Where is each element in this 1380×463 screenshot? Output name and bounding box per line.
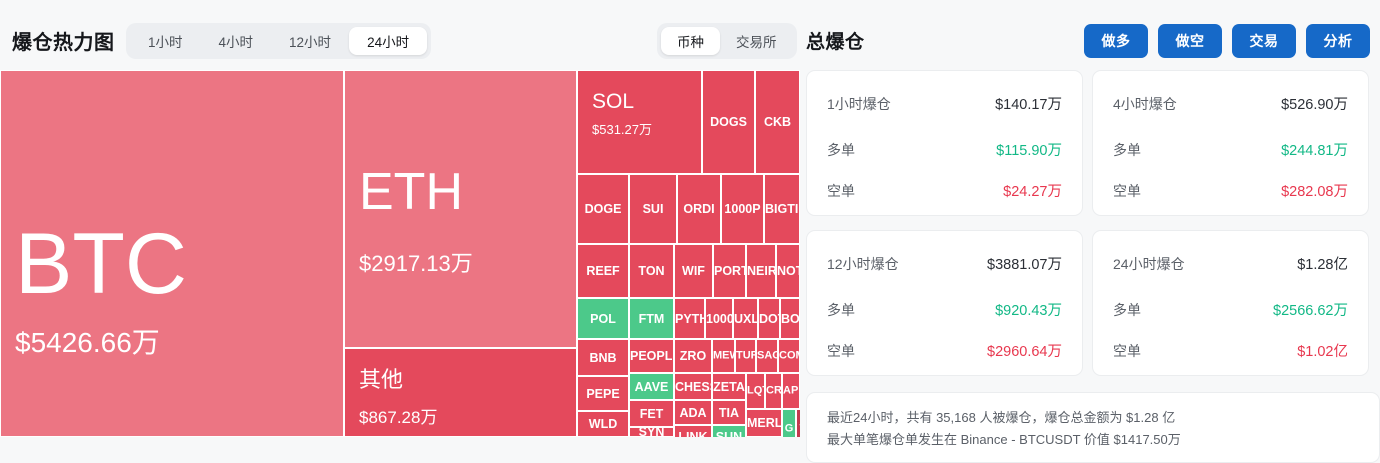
treemap-tile-value: $531.27万: [592, 123, 652, 136]
summary-line-1: 最近24小时，共有 35,168 人被爆仓，爆仓总金额为 $1.28 亿: [827, 407, 1359, 429]
stats-panel: 1小时爆仓$140.17万多单$115.90万空单$24.27万4小时爆仓$52…: [806, 70, 1380, 463]
treemap-tile-symbol: TURBO: [736, 351, 755, 362]
liquidation-heatmap-page: 爆仓热力图 1小时4小时12小时24小时 币种交易所 总爆仓 做多做空交易分析 …: [0, 0, 1380, 463]
treemap-tile[interactable]: PEPE: [577, 376, 629, 411]
treemap-tile-symbol: MERL: [747, 417, 781, 430]
treemap-tile[interactable]: APE: [782, 373, 800, 409]
stat-card-row: 4小时爆仓$526.90万: [1113, 93, 1348, 114]
treemap-tile[interactable]: BIGTIME: [764, 174, 800, 244]
stat-card-long-value: $115.90万: [996, 139, 1062, 160]
treemap-tile-symbol: CKB: [756, 116, 799, 129]
treemap-tile[interactable]: LQTY: [746, 373, 765, 409]
treemap-tile-symbol: TON: [630, 265, 673, 278]
treemap-tile-value: $867.28万: [359, 409, 437, 426]
stat-card-row: 空单$1.02亿: [1113, 340, 1348, 361]
treemap-tile[interactable]: DOGS: [702, 70, 755, 174]
treemap-tile-symbol: PEOPLE: [630, 350, 673, 363]
treemap-tile-symbol: ADA: [675, 406, 711, 419]
treemap-tile-symbol: ORDI: [678, 203, 720, 216]
stat-card-row: 多单$920.43万: [827, 299, 1062, 320]
stat-card-long-label: 多单: [1113, 300, 1141, 320]
treemap-tile-symbol: NEIRO: [747, 265, 775, 278]
treemap-tile[interactable]: TON: [629, 244, 674, 298]
stat-card-long-label: 多单: [1113, 140, 1141, 160]
treemap-tile[interactable]: T: [796, 409, 800, 437]
liquidation-treemap[interactable]: BTC$5426.66万ETH$2917.13万其他$867.28万SOL$53…: [0, 70, 800, 437]
treemap-tile[interactable]: TURBO: [735, 339, 756, 373]
stat-card-short-value: $1.02亿: [1297, 340, 1348, 361]
treemap-tile[interactable]: NOT: [776, 244, 800, 298]
treemap-tile-symbol: SUN: [713, 431, 745, 437]
treemap-tile[interactable]: BTC$5426.66万: [0, 70, 344, 437]
treemap-tile[interactable]: UXLINK: [733, 298, 758, 339]
treemap-tile[interactable]: FET: [629, 400, 674, 427]
treemap-tile[interactable]: MEW: [712, 339, 735, 373]
treemap-tile[interactable]: ZETA: [712, 373, 746, 400]
treemap-tile[interactable]: 1000R: [705, 298, 733, 339]
treemap-tile-symbol: DOGE: [578, 203, 628, 216]
treemap-tile[interactable]: SYN: [629, 427, 674, 437]
stat-card: 24小时爆仓$1.28亿多单$2566.62万空单$1.02亿: [1092, 230, 1369, 376]
treemap-tile[interactable]: ADA: [674, 400, 712, 425]
stat-card-short-value: $2960.64万: [987, 340, 1062, 361]
treemap-tile[interactable]: SUN: [712, 425, 746, 437]
stat-card-row: 1小时爆仓$140.17万: [827, 93, 1062, 114]
summary-line-2: 最大单笔爆仓单发生在 Binance - BTCUSDT 价值 $1417.50…: [827, 429, 1359, 451]
stat-card-row: 空单$282.08万: [1113, 180, 1348, 201]
stat-card-row: 多单$244.81万: [1113, 139, 1348, 160]
stat-card-long-label: 多单: [827, 300, 855, 320]
treemap-tile-symbol: BOME: [781, 312, 799, 325]
treemap-tile[interactable]: WLD: [577, 411, 629, 437]
treemap-tile-symbol: TIA: [713, 406, 745, 419]
treemap-tile-symbol: POL: [578, 312, 628, 325]
treemap-tile[interactable]: TIA: [712, 400, 746, 425]
stat-card: 1小时爆仓$140.17万多单$115.90万空单$24.27万: [806, 70, 1083, 216]
treemap-tile[interactable]: 其他$867.28万: [344, 348, 577, 437]
stat-card-long-value: $920.43万: [995, 299, 1062, 320]
treemap-tile-symbol: WIF: [675, 265, 712, 278]
treemap-tile-symbol: DOT: [759, 312, 779, 325]
total-liquidation-title: 总爆仓: [806, 27, 865, 54]
stat-card-short-value: $282.08万: [1281, 180, 1348, 201]
page-header: 爆仓热力图 1小时4小时12小时24小时 币种交易所 总爆仓 做多做空交易分析: [0, 0, 1380, 70]
stat-card-row: 12小时爆仓$3881.07万: [827, 253, 1062, 274]
treemap-tile-symbol: 1000P: [722, 203, 763, 216]
treemap-tile[interactable]: ZRO: [674, 339, 712, 373]
treemap-tile-symbol: 1000R: [706, 312, 732, 325]
treemap-tile[interactable]: LINK: [674, 425, 712, 437]
stat-card-total: $3881.07万: [987, 253, 1062, 274]
groupby-segmented-control[interactable]: 币种交易所: [657, 23, 797, 59]
treemap-tile-value: $5426.66万: [15, 329, 160, 357]
treemap-tile-symbol: CRV: [766, 386, 781, 397]
treemap-tile-symbol: BTC: [15, 221, 187, 307]
treemap-tile[interactable]: BOME: [780, 298, 800, 339]
treemap-tile[interactable]: SAGA: [756, 339, 778, 373]
treemap-tile-value: $2917.13万: [359, 253, 473, 275]
stat-card-row: 空单$24.27万: [827, 180, 1062, 201]
stat-card-row: 24小时爆仓$1.28亿: [1113, 253, 1348, 274]
stat-card: 12小时爆仓$3881.07万多单$920.43万空单$2960.64万: [806, 230, 1083, 376]
treemap-tile[interactable]: AAVE: [629, 373, 674, 400]
timeframe-option-1[interactable]: 4小时: [201, 27, 272, 55]
treemap-tile-symbol: 其他: [359, 369, 403, 391]
treemap-tile-symbol: SYN: [630, 427, 673, 437]
stat-card-total: $526.90万: [1281, 93, 1348, 114]
treemap-tile-symbol: SUI: [630, 203, 676, 216]
treemap-tile-symbol: DOGS: [703, 116, 754, 129]
stat-card-row: 多单$2566.62万: [1113, 299, 1348, 320]
stat-card-short-value: $24.27万: [1003, 180, 1062, 201]
treemap-tile-symbol: FTM: [630, 312, 673, 325]
treemap-tile-symbol: BNB: [578, 351, 628, 364]
timeframe-segmented-control[interactable]: 1小时4小时12小时24小时: [126, 23, 431, 59]
treemap-tile-symbol: MEW: [713, 351, 734, 362]
treemap-tile-symbol: COMP: [779, 351, 799, 362]
treemap-tile-symbol: SOL: [592, 91, 634, 112]
stat-card-short-label: 空单: [827, 341, 855, 361]
treemap-tile-symbol: T: [797, 424, 800, 435]
treemap-tile[interactable]: POL: [577, 298, 629, 339]
timeframe-option-0[interactable]: 1小时: [130, 27, 201, 55]
treemap-tile[interactable]: SOL$531.27万: [577, 70, 702, 174]
treemap-tile-symbol: ETH: [359, 166, 463, 218]
treemap-tile[interactable]: MERL: [746, 409, 782, 437]
summary-card: 最近24小时，共有 35,168 人被爆仓，爆仓总金额为 $1.28 亿 最大单…: [806, 392, 1380, 463]
treemap-tile-symbol: REEF: [578, 265, 628, 278]
treemap-tile[interactable]: ORDI: [677, 174, 721, 244]
stat-card-row: 空单$2960.64万: [827, 340, 1062, 361]
treemap-tile-symbol: BIGTIME: [765, 203, 799, 216]
timeframe-option-3[interactable]: 24小时: [349, 27, 427, 55]
action-button-1[interactable]: 做空: [1158, 24, 1222, 58]
treemap-tile-symbol: PORTAL: [714, 265, 745, 278]
stat-card-short-label: 空单: [1113, 341, 1141, 361]
stat-card-short-label: 空单: [1113, 181, 1141, 201]
treemap-tile-symbol: NOT: [777, 265, 799, 278]
stat-card-title: 24小时爆仓: [1113, 254, 1185, 274]
treemap-tile[interactable]: DOT: [758, 298, 780, 339]
action-button-2[interactable]: 交易: [1232, 24, 1296, 58]
stat-card-title: 1小时爆仓: [827, 94, 891, 114]
action-button-group[interactable]: 做多做空交易分析: [1084, 24, 1370, 58]
treemap-tile[interactable]: CKB: [755, 70, 800, 174]
stat-card-long-value: $244.81万: [1281, 139, 1348, 160]
treemap-tile-symbol: ZETA: [713, 380, 745, 393]
groupby-option-0[interactable]: 币种: [661, 27, 720, 55]
stat-card-title: 12小时爆仓: [827, 254, 899, 274]
treemap-tile[interactable]: ETH$2917.13万: [344, 70, 577, 348]
treemap-tile[interactable]: WIF: [674, 244, 713, 298]
treemap-tile[interactable]: REEF: [577, 244, 629, 298]
treemap-tile[interactable]: SUI: [629, 174, 677, 244]
treemap-tile[interactable]: FTM: [629, 298, 674, 339]
treemap-tile-symbol: PYTH: [675, 312, 704, 325]
treemap-tile-symbol: CHESS: [675, 380, 711, 393]
treemap-tile[interactable]: BNB: [577, 339, 629, 376]
treemap-tile-symbol: LQTY: [747, 386, 764, 397]
stat-card-total: $140.17万: [995, 93, 1062, 114]
action-button-0[interactable]: 做多: [1084, 24, 1148, 58]
treemap-tile-symbol: UXLINK: [734, 312, 757, 325]
treemap-tile[interactable]: PEOPLE: [629, 339, 674, 373]
treemap-tile-symbol: SAGA: [757, 351, 777, 362]
stat-card: 4小时爆仓$526.90万多单$244.81万空单$282.08万: [1092, 70, 1369, 216]
treemap-tile-symbol: WLD: [578, 418, 628, 431]
groupby-option-1[interactable]: 交易所: [720, 27, 793, 55]
treemap-tile[interactable]: CHESS: [674, 373, 712, 400]
treemap-tile-symbol: G: [783, 424, 795, 435]
treemap-tile-symbol: LINK: [675, 431, 711, 437]
treemap-tile[interactable]: COMP: [778, 339, 800, 373]
stat-card-title: 4小时爆仓: [1113, 94, 1177, 114]
page-title: 爆仓热力图: [12, 26, 115, 55]
action-button-3[interactable]: 分析: [1306, 24, 1370, 58]
stat-card-short-label: 空单: [827, 181, 855, 201]
treemap-tile[interactable]: 1000P: [721, 174, 764, 244]
treemap-tile-symbol: AAVE: [630, 380, 673, 393]
stat-card-long-label: 多单: [827, 140, 855, 160]
treemap-tile[interactable]: G: [782, 409, 796, 437]
stat-card-row: 多单$115.90万: [827, 139, 1062, 160]
treemap-tile[interactable]: PYTH: [674, 298, 705, 339]
treemap-tile-symbol: FET: [630, 407, 673, 420]
treemap-tile-symbol: APE: [783, 386, 799, 397]
treemap-tile[interactable]: PORTAL: [713, 244, 746, 298]
treemap-tile-symbol: ZRO: [675, 350, 711, 363]
treemap-tile[interactable]: NEIRO: [746, 244, 776, 298]
timeframe-option-2[interactable]: 12小时: [271, 27, 349, 55]
stat-card-long-value: $2566.62万: [1273, 299, 1348, 320]
stat-card-total: $1.28亿: [1297, 253, 1348, 274]
treemap-tile[interactable]: CRV: [765, 373, 782, 409]
treemap-tile[interactable]: DOGE: [577, 174, 629, 244]
treemap-tile-symbol: PEPE: [578, 387, 628, 400]
